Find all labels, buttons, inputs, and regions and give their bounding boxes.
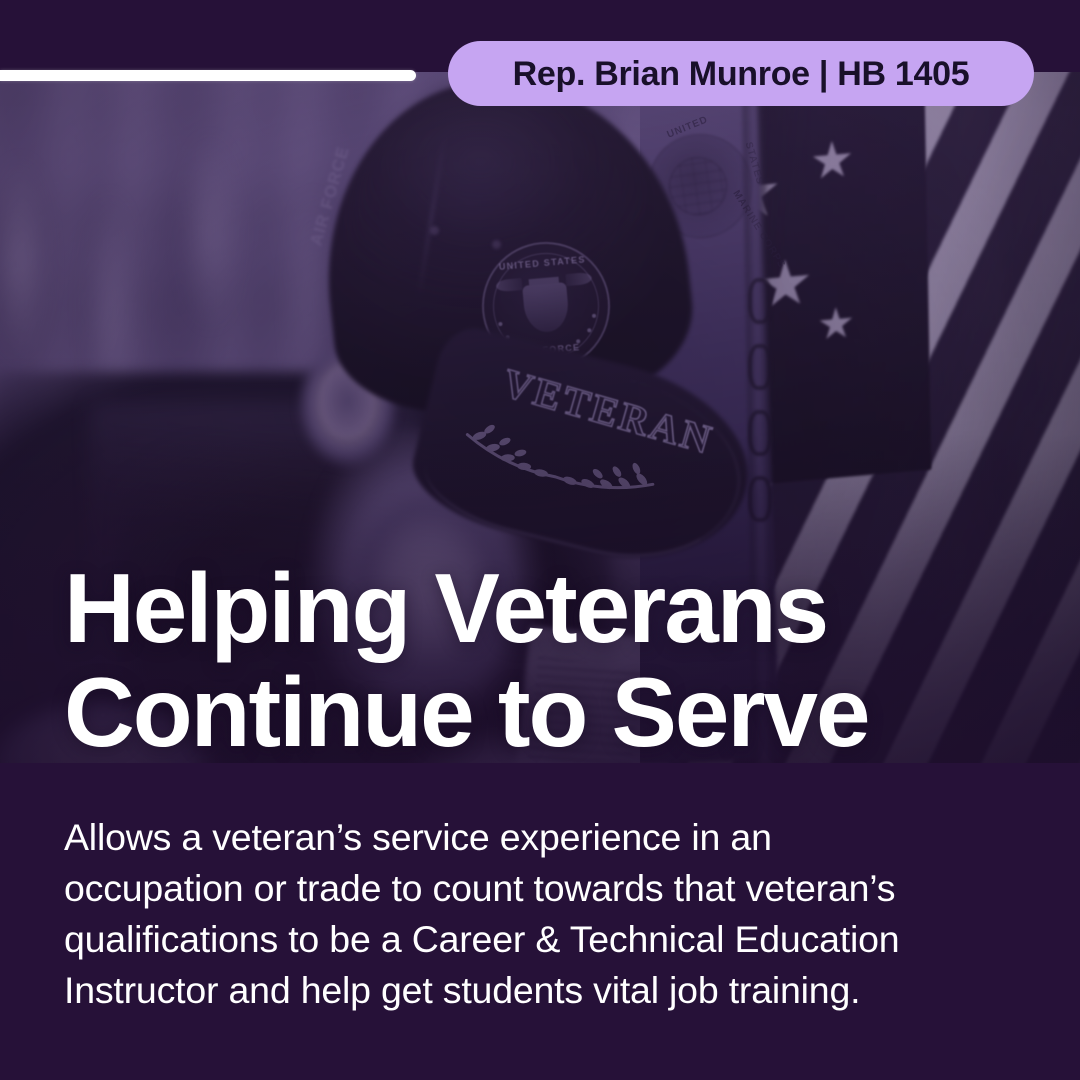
white-rule-bar <box>0 70 416 81</box>
bill-badge: Rep. Brian Munroe | HB 1405 <box>448 41 1034 106</box>
description-line-2: occupation or trade to count towards tha… <box>64 863 1044 914</box>
bill-description: Allows a veteran’s service experience in… <box>64 812 1044 1016</box>
description-line-3: qualifications to be a Career & Technica… <box>64 914 1044 965</box>
social-media-card: UNITED STATES MARINE CORPS AIR FORCE UNI… <box>0 0 1080 1080</box>
headline-line-2: Continue to Serve <box>64 660 1064 764</box>
headline: Helping Veterans Continue to Serve <box>64 556 1064 764</box>
description-line-1: Allows a veteran’s service experience in… <box>64 812 1044 863</box>
headline-line-1: Helping Veterans <box>64 556 1064 660</box>
bill-badge-label: Rep. Brian Munroe | HB 1405 <box>513 57 970 91</box>
description-line-4: Instructor and help get students vital j… <box>64 965 1044 1016</box>
